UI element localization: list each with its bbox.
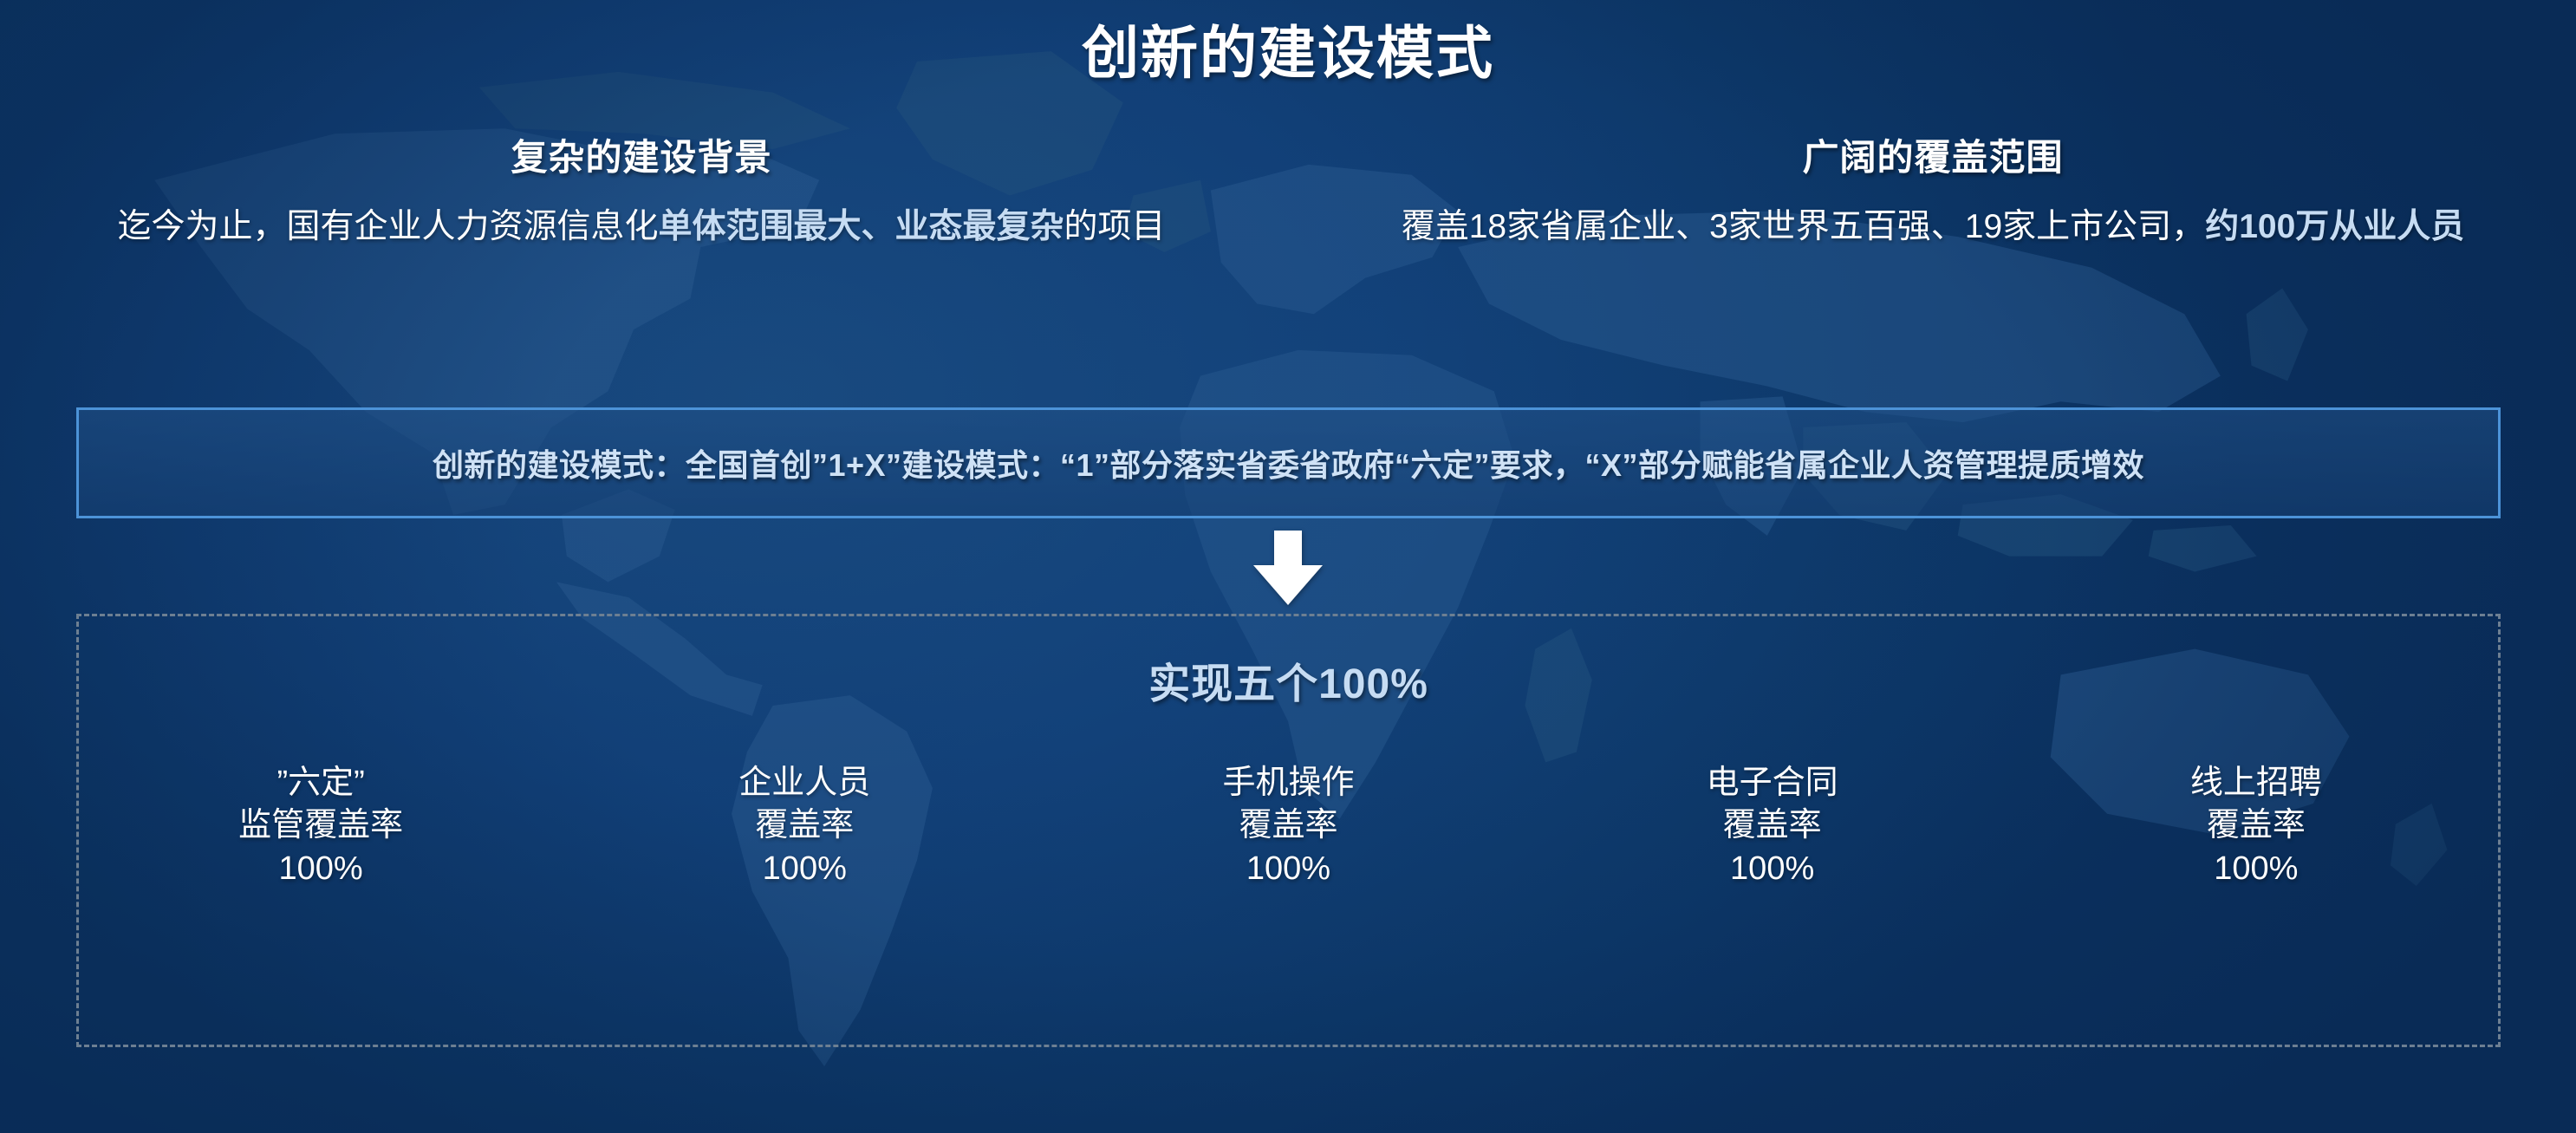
column-right-heading: 广阔的覆盖范围 [1335, 128, 2531, 181]
column-left-body-part2: 的项目 [1064, 208, 1166, 245]
result-item-line2: 覆盖率 [599, 804, 1010, 847]
result-item: 电子合同 覆盖率 100% [1566, 762, 1977, 890]
result-item: 线上招聘 覆盖率 100% [2051, 762, 2462, 890]
result-item-line1: ”六定” [115, 762, 526, 804]
result-item-line1: 线上招聘 [2051, 762, 2462, 804]
model-banner: 创新的建设模式：全国首创”1+X”建设模式：“1”部分落实省委省政府“六定”要求… [76, 407, 2501, 518]
column-right-body-part1: 覆盖18家省属企业、3家世界五百强、19家上市公司， [1402, 208, 2205, 245]
result-item-line2: 覆盖率 [1083, 804, 1493, 847]
result-item-line2: 覆盖率 [2051, 804, 2462, 847]
result-item-value: 100% [1083, 848, 1493, 890]
result-item-value: 100% [2051, 848, 2462, 890]
slide-content: 创新的建设模式 复杂的建设背景 迄今为止，国有企业人力资源信息化单体范围最大、业… [0, 0, 2576, 1133]
column-right: 广阔的覆盖范围 覆盖18家省属企业、3家世界五百强、19家上市公司，约100万从… [1335, 128, 2531, 250]
column-right-body-highlight: 约100万从业人员 [2205, 208, 2464, 245]
results-grid: ”六定” 监管覆盖率 100% 企业人员 覆盖率 100% 手机操作 覆盖率 1… [79, 762, 2498, 890]
result-item: 手机操作 覆盖率 100% [1083, 762, 1493, 890]
result-item-line1: 手机操作 [1083, 762, 1493, 804]
column-left-heading: 复杂的建设背景 [52, 128, 1231, 181]
result-item-line2: 覆盖率 [1566, 804, 1977, 847]
arrow-down-icon [1248, 531, 1328, 605]
column-left: 复杂的建设背景 迄今为止，国有企业人力资源信息化单体范围最大、业态最复杂的项目 [52, 128, 1231, 250]
result-item-value: 100% [1566, 848, 1977, 890]
column-left-body-part1: 迄今为止，国有企业人力资源信息化 [117, 208, 658, 245]
results-heading: 实现五个100% [79, 649, 2498, 710]
column-right-body: 覆盖18家省属企业、3家世界五百强、19家上市公司，约100万从业人员 [1335, 205, 2531, 250]
column-left-body: 迄今为止，国有企业人力资源信息化单体范围最大、业态最复杂的项目 [52, 205, 1231, 250]
result-item-value: 100% [599, 848, 1010, 890]
result-item-value: 100% [115, 848, 526, 890]
result-item: ”六定” 监管覆盖率 100% [115, 762, 526, 890]
result-item: 企业人员 覆盖率 100% [599, 762, 1010, 890]
result-item-line1: 电子合同 [1566, 762, 1977, 804]
model-banner-text: 创新的建设模式：全国首创”1+X”建设模式：“1”部分落实省委省政府“六定”要求… [433, 440, 2144, 485]
result-item-line1: 企业人员 [599, 762, 1010, 804]
results-panel: 实现五个100% ”六定” 监管覆盖率 100% 企业人员 覆盖率 100% 手… [76, 614, 2501, 1047]
page-title: 创新的建设模式 [0, 7, 2576, 90]
result-item-line2: 监管覆盖率 [115, 804, 526, 847]
column-left-body-highlight: 单体范围最大、业态最复杂 [658, 208, 1064, 245]
